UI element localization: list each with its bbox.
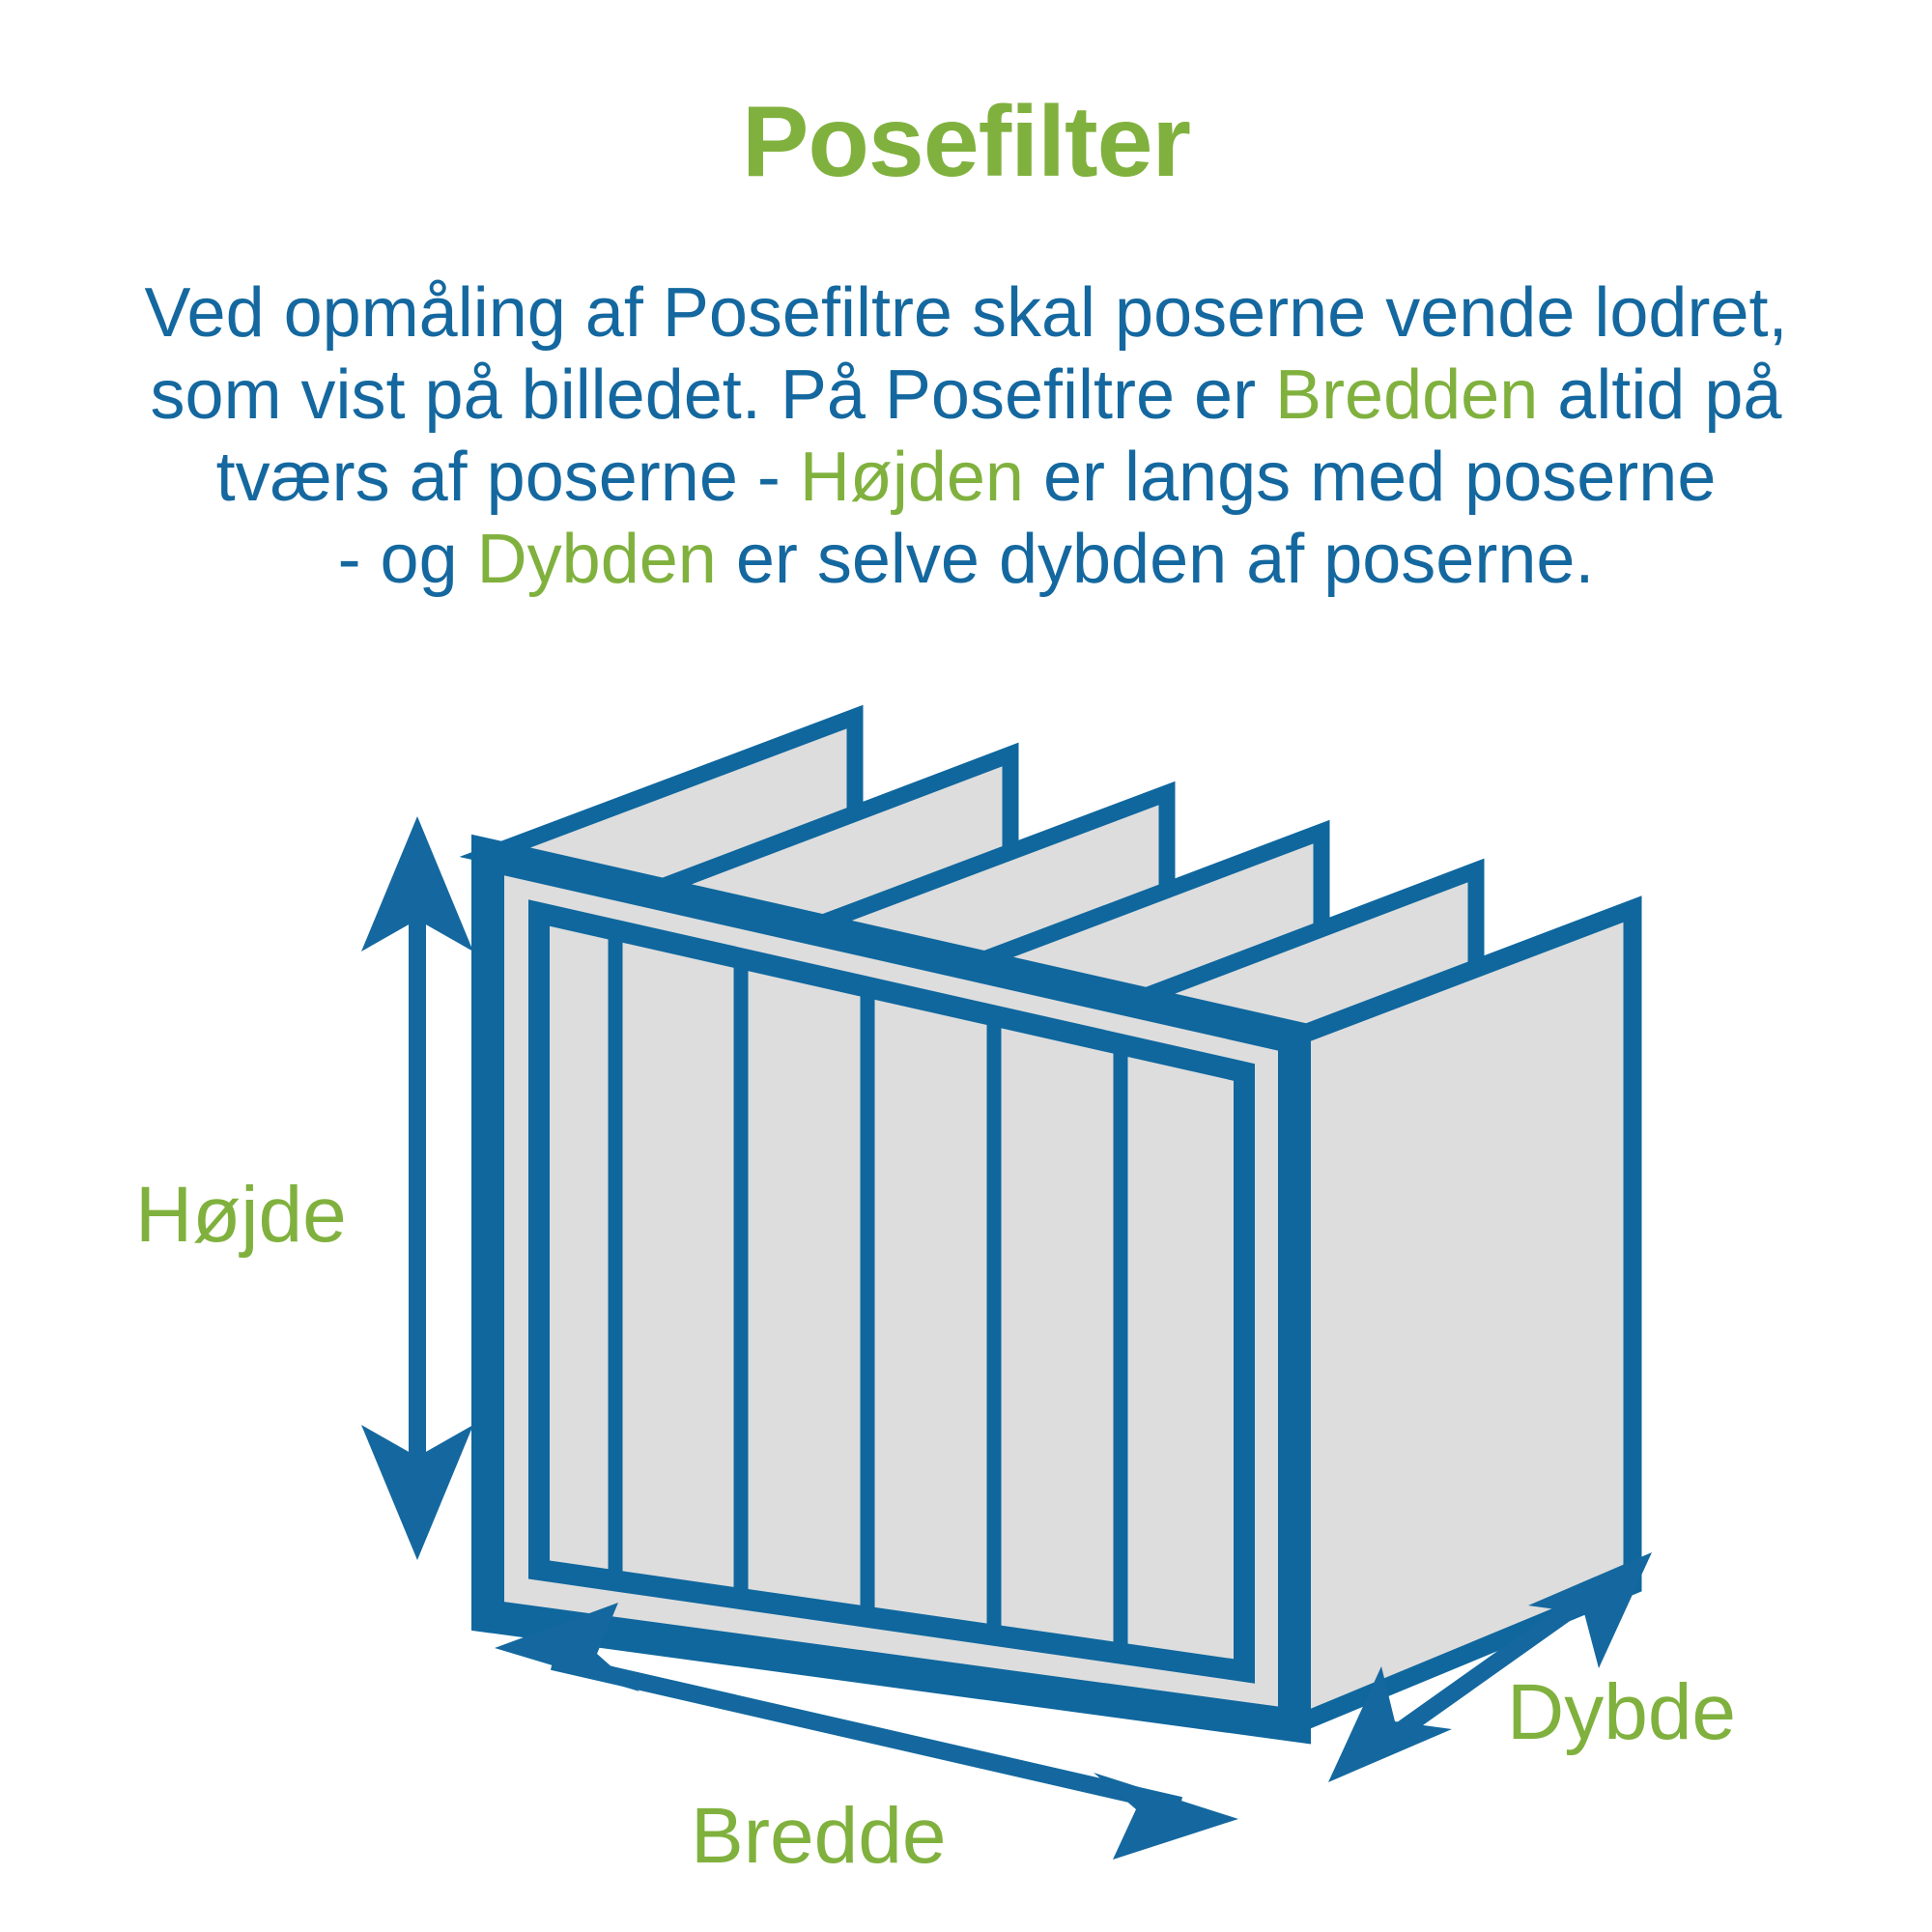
width-label: Bredde (691, 1792, 946, 1880)
depth-label: Dybde (1507, 1668, 1736, 1756)
height-label: Højde (135, 1171, 347, 1259)
width-arrow-head-right (1094, 1773, 1238, 1860)
page-root: Posefilter Ved opmåling af Posefiltre sk… (0, 0, 1932, 1932)
bag-filter-diagram: Højde Bredde Dybde (0, 0, 1932, 1932)
height-dimension-arrow (361, 816, 473, 1560)
